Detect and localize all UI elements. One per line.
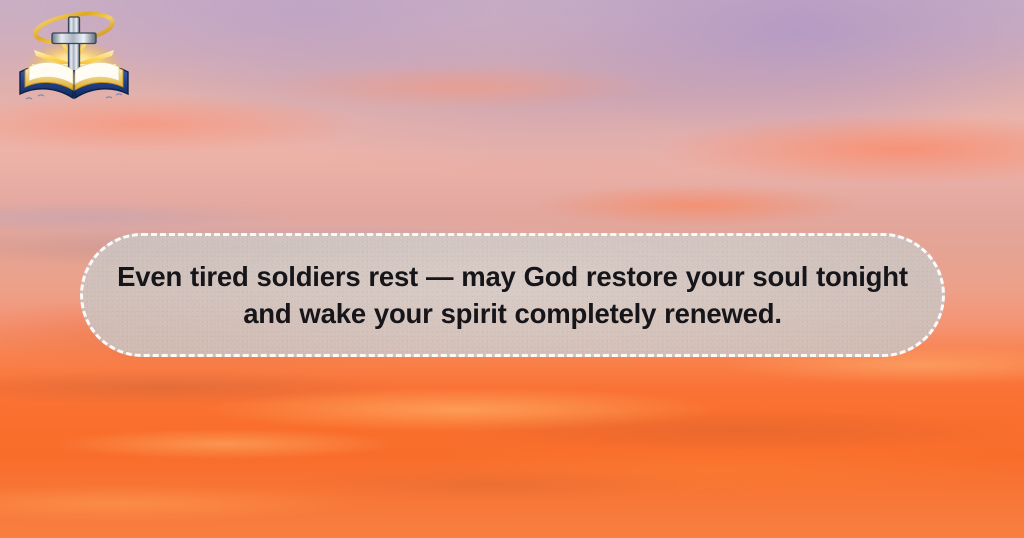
sunset-quote-graphic: Even tired soldiers rest — may God resto…	[0, 0, 1024, 538]
open-bible-cross-logo[interactable]	[12, 6, 136, 106]
quote-card: Even tired soldiers rest — may God resto…	[80, 233, 945, 357]
quote-text: Even tired soldiers rest — may God resto…	[109, 258, 916, 332]
